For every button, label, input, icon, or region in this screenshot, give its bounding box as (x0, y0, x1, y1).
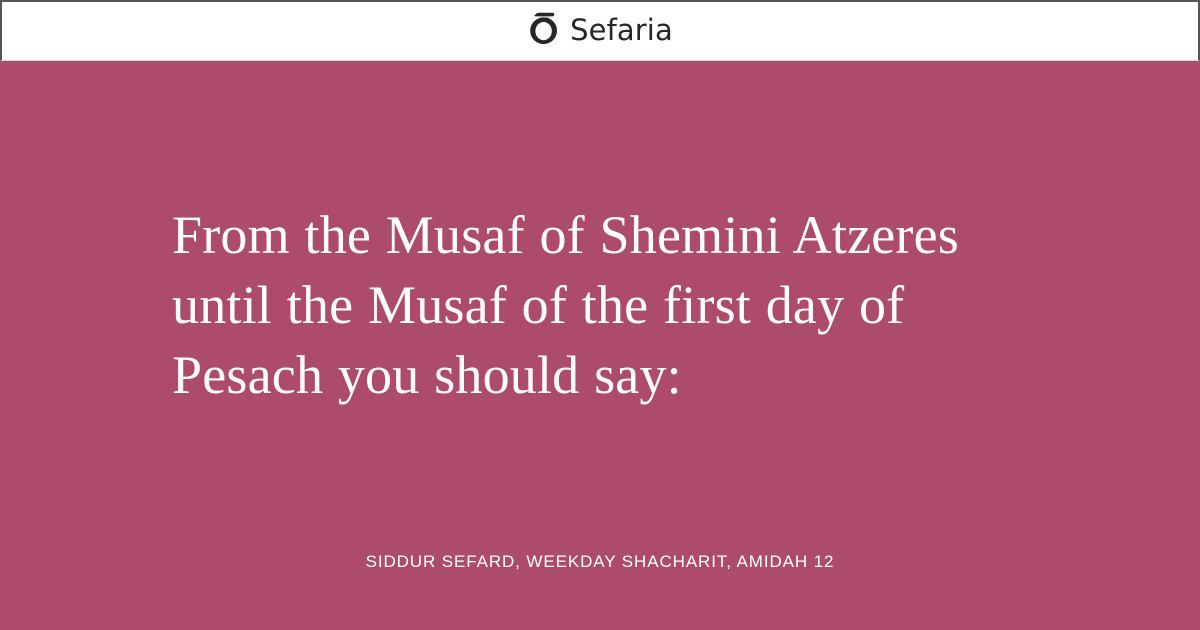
sefaria-logo[interactable]: Sefaria (527, 12, 673, 48)
quote-panel: From the Musaf of Shemini Atzeres until … (0, 61, 1200, 630)
quote-text: From the Musaf of Shemini Atzeres until … (172, 200, 1052, 410)
source-citation: SIDDUR SEFARD, WEEKDAY SHACHARIT, AMIDAH… (0, 551, 1200, 573)
sefaria-source-card: Sefaria From the Musaf of Shemini Atzere… (0, 0, 1200, 630)
site-header: Sefaria (0, 0, 1200, 61)
sefaria-samekh-logo-icon (527, 12, 559, 48)
brand-name-text: Sefaria (570, 16, 673, 45)
